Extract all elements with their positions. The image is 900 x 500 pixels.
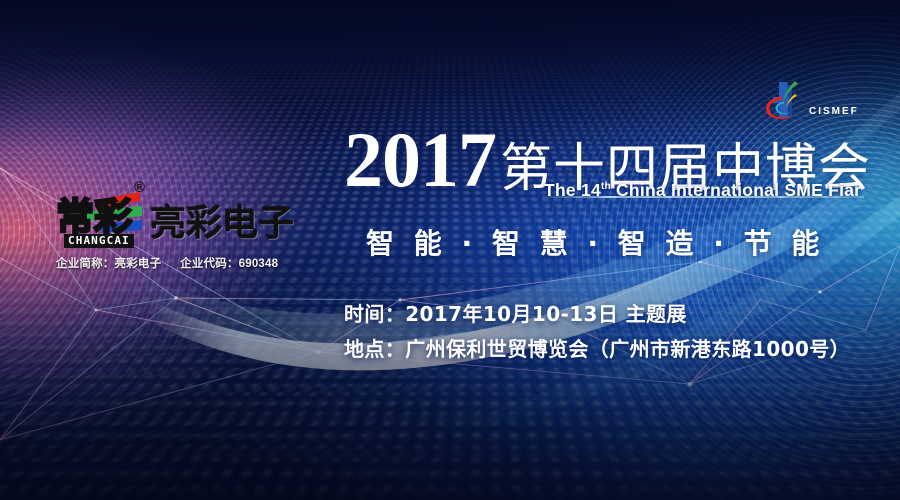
cismef-logo-text: CISMEF: [809, 106, 859, 122]
event-date-line: 时间：2017年10月10-13日 主题展: [344, 298, 850, 327]
cismef-mark-icon: [762, 78, 804, 122]
headline-en-prefix: The 14: [544, 180, 601, 200]
headline-block: 2017 第十四届中博会 The 14th China Internationa…: [344, 124, 864, 196]
company-logo-mark: 常彩 常彩 ® CHANGCAI: [56, 190, 148, 246]
company-meta-line: 企业简称：亮彩电子 企业代码：690348: [56, 255, 296, 271]
company-logo-row: 常彩 常彩 ® CHANGCAI 亮彩电子: [56, 190, 296, 246]
event-info-block: 时间：2017年10月10-13日 主题展 地点：广州保利世贸博览会（广州市新港…: [344, 298, 850, 362]
headline-year: 2017: [344, 124, 496, 196]
cismef-logo: CISMEF: [762, 76, 882, 122]
company-chinese-name: 亮彩电子: [150, 206, 294, 242]
promo-banner: CISMEF 常彩 常彩 ® CHANGCAI 亮彩电子 企业简称：亮彩电子 企…: [0, 0, 900, 500]
company-code: 企业代码：690348: [180, 258, 278, 270]
registered-trademark-icon: ®: [134, 180, 145, 195]
slogan-text: 智 能 · 智 慧 · 智 造 · 节 能: [366, 222, 824, 262]
company-short-name: 企业简称：亮彩电子: [56, 258, 161, 270]
svg-text:常彩: 常彩: [56, 195, 132, 239]
halftone-dot-field-upper: [0, 0, 900, 48]
headline-en-ordinal: th: [601, 181, 611, 192]
headline-title-english: The 14th China International SME Fiar: [544, 180, 861, 201]
company-latin-name: CHANGCAI: [64, 234, 134, 248]
company-logo-block: 常彩 常彩 ® CHANGCAI 亮彩电子 企业简称：亮彩电子 企业代码：690…: [56, 190, 296, 271]
headline-en-suffix: China International SME Fiar: [611, 180, 861, 200]
event-venue-line: 地点：广州保利世贸博览会（广州市新港东路1000号）: [344, 333, 850, 362]
